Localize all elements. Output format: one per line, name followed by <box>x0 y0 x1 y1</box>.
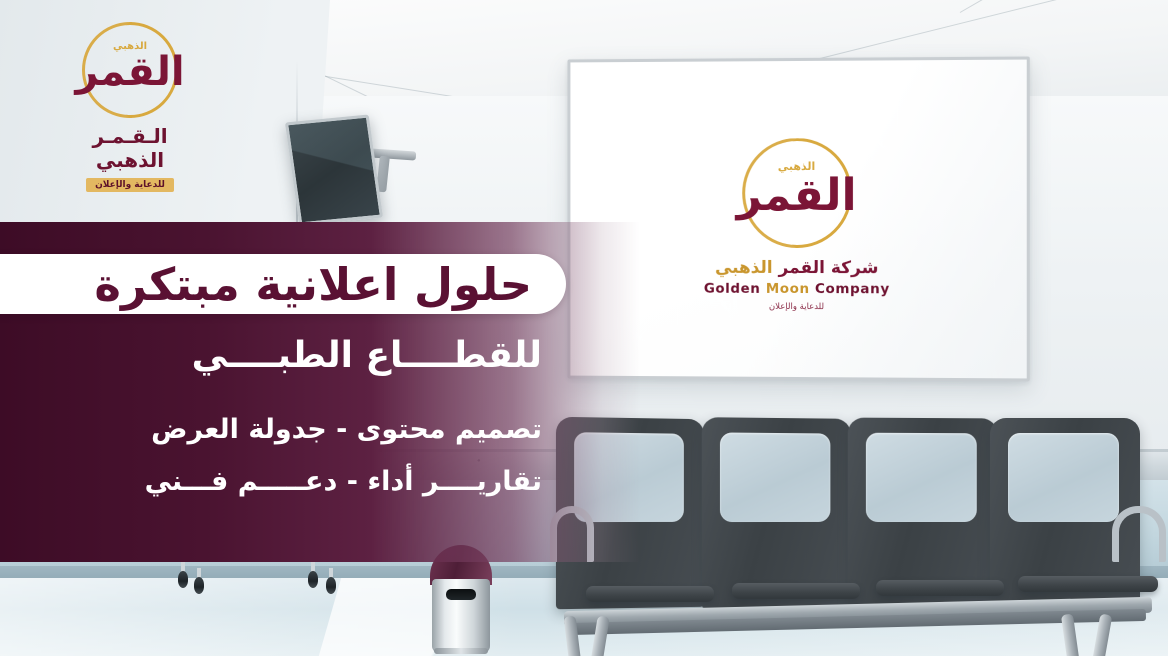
board-company-name-ar: شركة القمر الذهبي <box>667 258 927 279</box>
company-ar-gold: الذهبي <box>715 258 773 278</box>
brand-name-text: الـقـمـر الذهبي <box>62 124 198 172</box>
ceiling-panel-line <box>960 0 1168 13</box>
castor-wheel <box>326 568 336 594</box>
monitor-glare <box>288 118 379 223</box>
castor-wheel <box>194 568 204 594</box>
headline-pill: حلول اعلانية مبتكرة <box>0 254 566 314</box>
advertising-banner: الذهبي القمر شركة القمر الذهبي Golden Mo… <box>0 0 1168 656</box>
castor-wheel <box>308 562 318 588</box>
crescent-moon-icon: الذهبي القمر <box>82 22 178 118</box>
subheadline-text: للقطــــاع الطبــــي <box>0 336 556 376</box>
logo-mark-main-word: القمر <box>737 176 857 216</box>
service-line-1: تصميم محتوى - جدولة العرض <box>0 414 556 445</box>
brand-tagline-badge: للدعاية والإعلان <box>86 178 174 192</box>
brand-logo: الذهبي القمر الـقـمـر الذهبي للدعاية وال… <box>62 22 198 192</box>
bench-cushion <box>732 583 860 599</box>
service-line-2: تقاريــــر أداء - دعـــــم فـــني <box>0 466 556 497</box>
board-tagline: للدعاية والإعلان <box>667 302 927 313</box>
crescent-moon-icon: الذهبي القمر <box>742 138 852 248</box>
bench-armrest <box>1112 506 1166 562</box>
headline-text: حلول اعلانية مبتكرة <box>0 262 538 307</box>
company-en-golden: Golden <box>704 281 766 297</box>
bench-cushion <box>876 580 1004 596</box>
board-company-name-en: Golden Moon Company <box>667 281 927 298</box>
castor-wheel <box>178 562 188 588</box>
wall-mounted-monitor <box>285 114 383 225</box>
logo-mark-main-word: القمر <box>75 54 184 90</box>
company-en-moon: Moon <box>766 281 815 297</box>
company-ar-name: القمر <box>773 258 825 278</box>
ceiling-panel-line <box>820 0 1168 59</box>
company-ar-prefix: شركة <box>825 258 879 278</box>
bench-seat <box>702 417 851 609</box>
trash-bin-slot <box>446 589 476 600</box>
bench-cushion <box>1018 576 1158 592</box>
board-company-logo: الذهبي القمر شركة القمر الذهبي Golden Mo… <box>667 138 927 313</box>
bench-cushion <box>586 586 714 602</box>
trash-bin-base <box>434 648 488 654</box>
company-en-company: Company <box>815 281 890 297</box>
waiting-room-bench <box>556 418 1168 656</box>
